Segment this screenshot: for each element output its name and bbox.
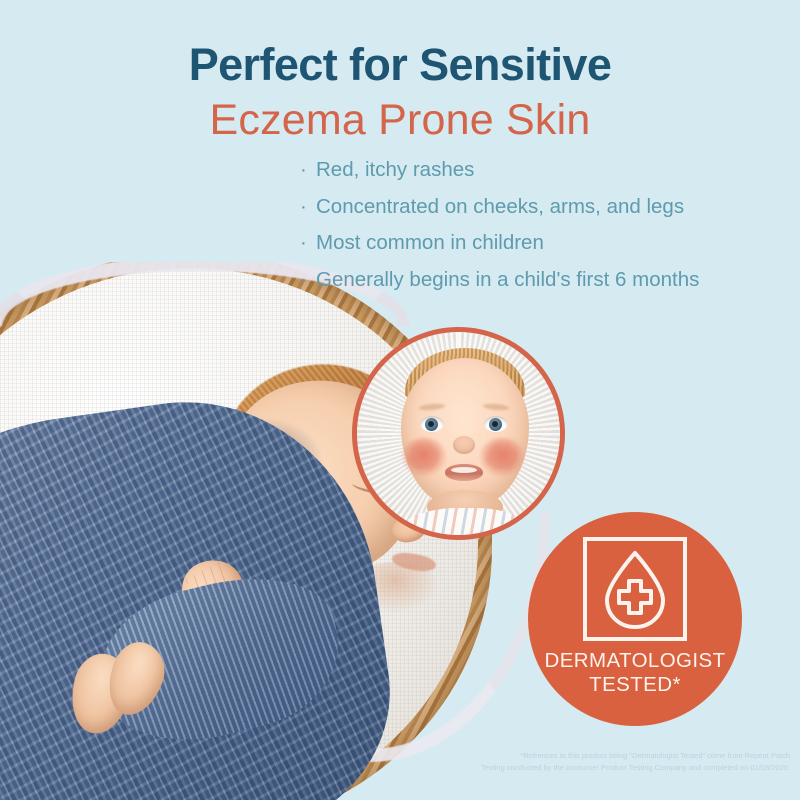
infant-eye-right xyxy=(484,416,508,432)
disclaimer-line-2: Testing conducted by the consumer Produc… xyxy=(440,762,790,774)
dermatologist-tested-badge: DERMATOLOGIST TESTED* xyxy=(528,512,742,726)
infant-face xyxy=(401,358,529,508)
headline-secondary: Eczema Prone Skin xyxy=(0,98,800,143)
list-item-label: Red, itchy rashes xyxy=(316,158,474,181)
symptom-bullet-list: · Red, itchy rashes · Concentrated on ch… xyxy=(300,160,770,306)
eczema-rash-patch-right-cheek xyxy=(480,438,524,476)
legal-disclaimer: *Refrences to this product being "Dermat… xyxy=(440,750,790,774)
list-item-label: Generally begins in a child's first 6 mo… xyxy=(316,268,699,291)
eczema-rash-patch-left-cheek xyxy=(402,438,446,476)
list-item-label: Concentrated on cheeks, arms, and legs xyxy=(316,195,684,218)
badge-label-line-1: DERMATOLOGIST xyxy=(528,650,742,673)
list-item: · Generally begins in a child's first 6 … xyxy=(300,270,770,291)
list-item: · Red, itchy rashes xyxy=(300,160,770,181)
bullet-marker-icon: · xyxy=(300,160,307,181)
bullet-marker-icon: · xyxy=(300,197,307,218)
infant-nose xyxy=(453,436,475,454)
headline-primary: Perfect for Sensitive xyxy=(0,42,800,88)
bullet-marker-icon: · xyxy=(300,233,307,254)
list-item: · Most common in children xyxy=(300,233,770,254)
infant-iris-left xyxy=(425,418,438,431)
list-item: · Concentrated on cheeks, arms, and legs xyxy=(300,197,770,218)
eczema-closeup-inset-photo xyxy=(352,327,565,540)
disclaimer-line-1: *Refrences to this product being "Dermat… xyxy=(440,750,790,762)
badge-label-line-2: TESTED* xyxy=(528,674,742,697)
infant-iris-right xyxy=(489,418,502,431)
marketing-infographic: Perfect for Sensitive Eczema Prone Skin … xyxy=(0,0,800,800)
infant-mouth xyxy=(445,464,483,481)
bullet-marker-icon: · xyxy=(300,270,307,291)
inset-photo-clip xyxy=(357,332,560,535)
list-item-label: Most common in children xyxy=(316,231,544,254)
droplet-with-medical-cross-in-square-icon xyxy=(581,536,689,642)
infant-eye-left xyxy=(420,416,444,432)
